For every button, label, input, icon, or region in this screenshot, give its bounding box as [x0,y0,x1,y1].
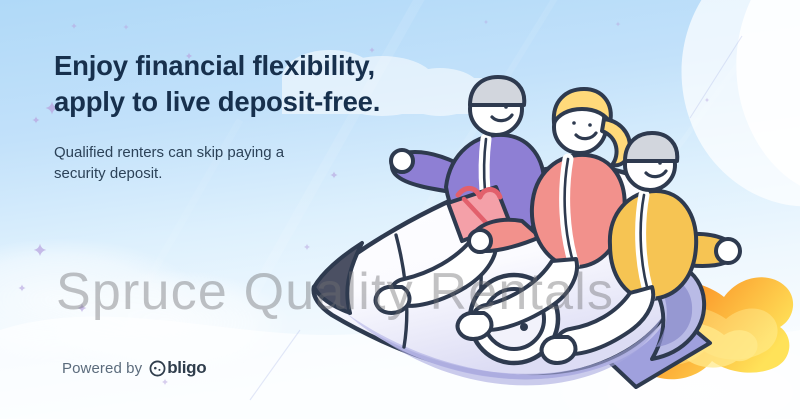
obligo-wordmark: bligo [167,358,206,378]
sparkle-icon [18,284,25,291]
sparkle-icon [34,244,46,256]
sparkle-icon [484,20,489,25]
sparkle-icon [78,304,87,313]
obligo-logo: bligo [149,358,206,378]
powered-by: Powered by bligo [62,358,206,378]
copy-block: Enjoy financial flexibility, apply to li… [54,48,414,185]
obligo-mark-icon [149,360,166,377]
sparkle-icon [71,23,77,29]
promo-banner: Spruce Quality Rentals Enjoy financial f… [0,0,800,419]
subheadline: Qualified renters can skip paying a secu… [54,120,414,186]
sparkle-icon [615,21,620,26]
sparkle-icon [162,379,168,385]
sparkle-icon [32,116,39,123]
powered-by-label: Powered by [62,360,142,377]
page-title: Enjoy financial flexibility, apply to li… [54,48,414,120]
cloud-mid-left [0,238,290,374]
sparkle-icon [123,24,128,29]
